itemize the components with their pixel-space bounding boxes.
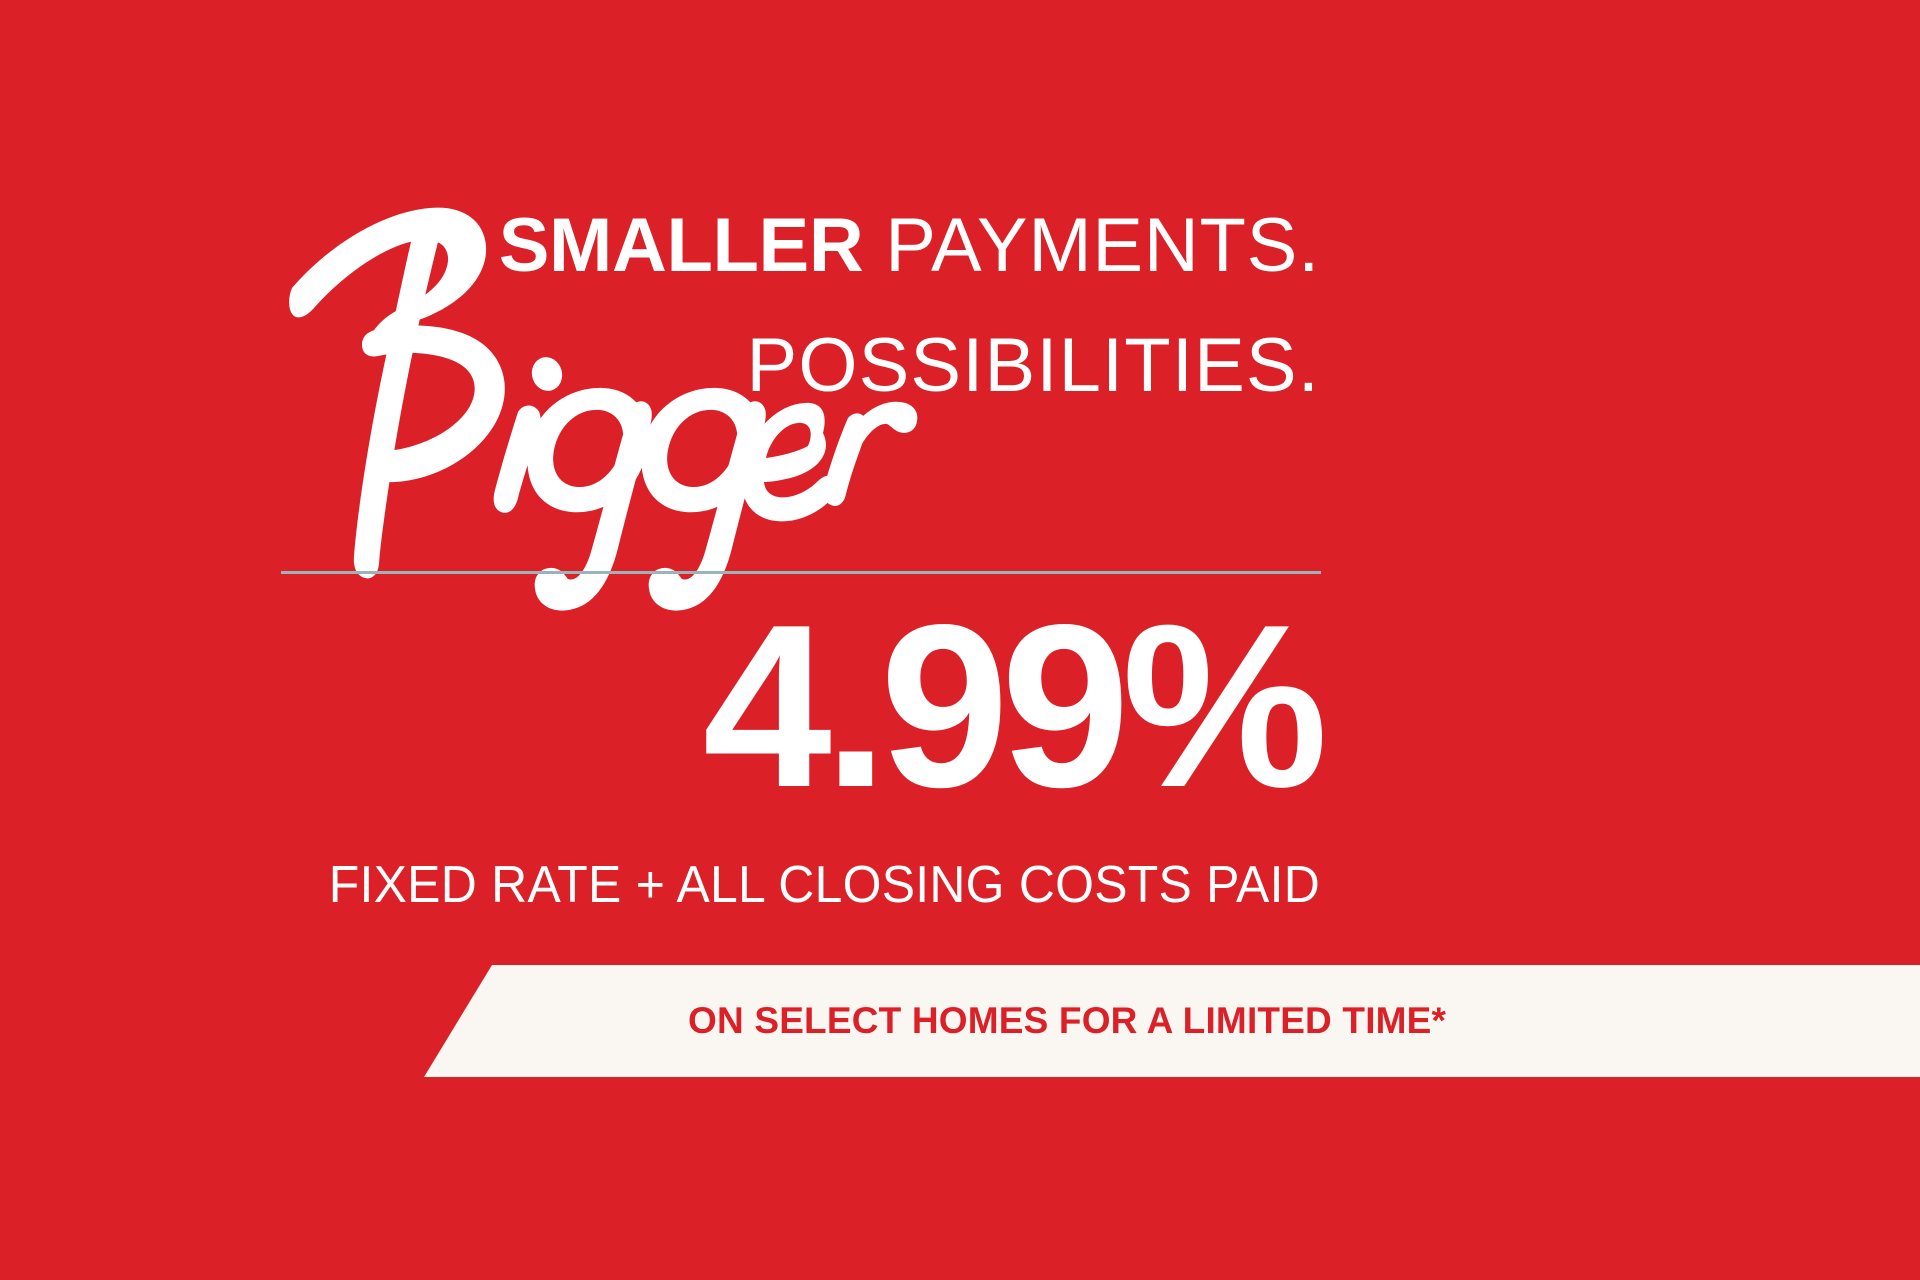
headline-smaller: SMALLER <box>499 203 864 288</box>
promo-banner: SMALLER PAYMENTS. POSSIBILITIES. 4.99% F… <box>0 0 1920 1280</box>
rate-caption: FIXED RATE + ALL CLOSING COSTS PAID <box>53 855 1320 915</box>
rate-value: 4.99% <box>0 600 1320 813</box>
headline-line-one: SMALLER PAYMENTS. <box>0 208 1320 284</box>
horizontal-divider-rule <box>281 571 1321 574</box>
headline-line-two: POSSIBILITIES. <box>0 328 1320 404</box>
headline-block: SMALLER PAYMENTS. POSSIBILITIES. <box>0 208 1320 404</box>
rate-block: 4.99% <box>0 600 1320 813</box>
headline-payments: PAYMENTS. <box>863 203 1320 288</box>
offer-ribbon-text: ON SELECT HOMES FOR A LIMITED TIME* <box>0 965 1920 1077</box>
